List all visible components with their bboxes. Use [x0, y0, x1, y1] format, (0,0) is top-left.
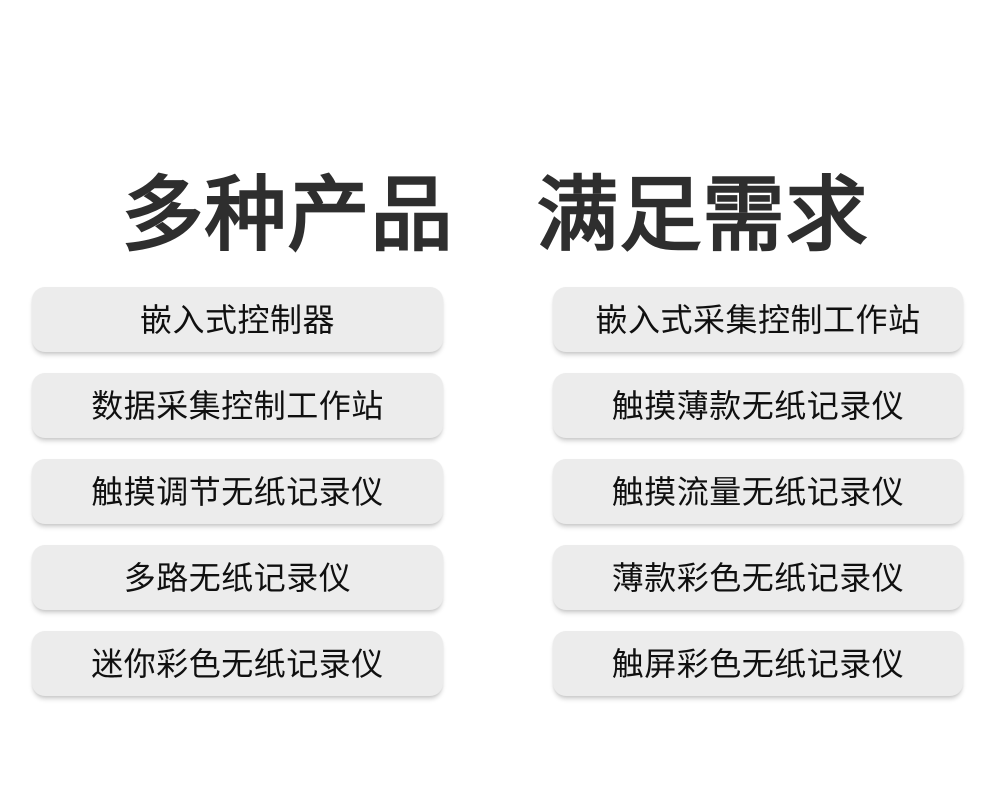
product-column-right: 嵌入式采集控制工作站 触摸薄款无纸记录仪 触摸流量无纸记录仪 薄款彩色无纸记录仪… — [553, 287, 963, 696]
product-category-item[interactable]: 触摸流量无纸记录仪 — [553, 459, 963, 524]
product-category-label: 嵌入式采集控制工作站 — [595, 304, 920, 336]
product-category-item[interactable]: 触摸薄款无纸记录仪 — [553, 373, 963, 438]
product-category-label: 触屏彩色无纸记录仪 — [612, 648, 905, 680]
product-category-item[interactable]: 薄款彩色无纸记录仪 — [553, 545, 963, 610]
page-title: 多种产品 满足需求 — [121, 173, 868, 260]
product-category-label: 触摸调节无纸记录仪 — [91, 476, 384, 508]
page-title-container: 多种产品 满足需求 — [0, 118, 990, 315]
product-category-label: 嵌入式控制器 — [140, 304, 335, 336]
product-category-item[interactable]: 迷你彩色无纸记录仪 — [32, 631, 443, 696]
product-category-item[interactable]: 数据采集控制工作站 — [32, 373, 443, 438]
product-category-label: 触摸薄款无纸记录仪 — [612, 390, 905, 422]
product-category-label: 多路无纸记录仪 — [124, 562, 352, 594]
product-category-item[interactable]: 嵌入式控制器 — [32, 287, 443, 352]
product-category-item[interactable]: 多路无纸记录仪 — [32, 545, 443, 610]
product-category-label: 薄款彩色无纸记录仪 — [612, 562, 905, 594]
product-category-label: 迷你彩色无纸记录仪 — [91, 648, 384, 680]
product-category-item[interactable]: 嵌入式采集控制工作站 — [553, 287, 963, 352]
product-category-banner: 多种产品 满足需求 嵌入式控制器 数据采集控制工作站 触摸调节无纸记录仪 多路无… — [0, 0, 990, 793]
product-column-left: 嵌入式控制器 数据采集控制工作站 触摸调节无纸记录仪 多路无纸记录仪 迷你彩色无… — [32, 287, 443, 696]
product-category-label: 数据采集控制工作站 — [91, 390, 384, 422]
product-category-columns: 嵌入式控制器 数据采集控制工作站 触摸调节无纸记录仪 多路无纸记录仪 迷你彩色无… — [32, 287, 963, 696]
product-category-item[interactable]: 触屏彩色无纸记录仪 — [553, 631, 963, 696]
product-category-label: 触摸流量无纸记录仪 — [612, 476, 905, 508]
product-category-item[interactable]: 触摸调节无纸记录仪 — [32, 459, 443, 524]
